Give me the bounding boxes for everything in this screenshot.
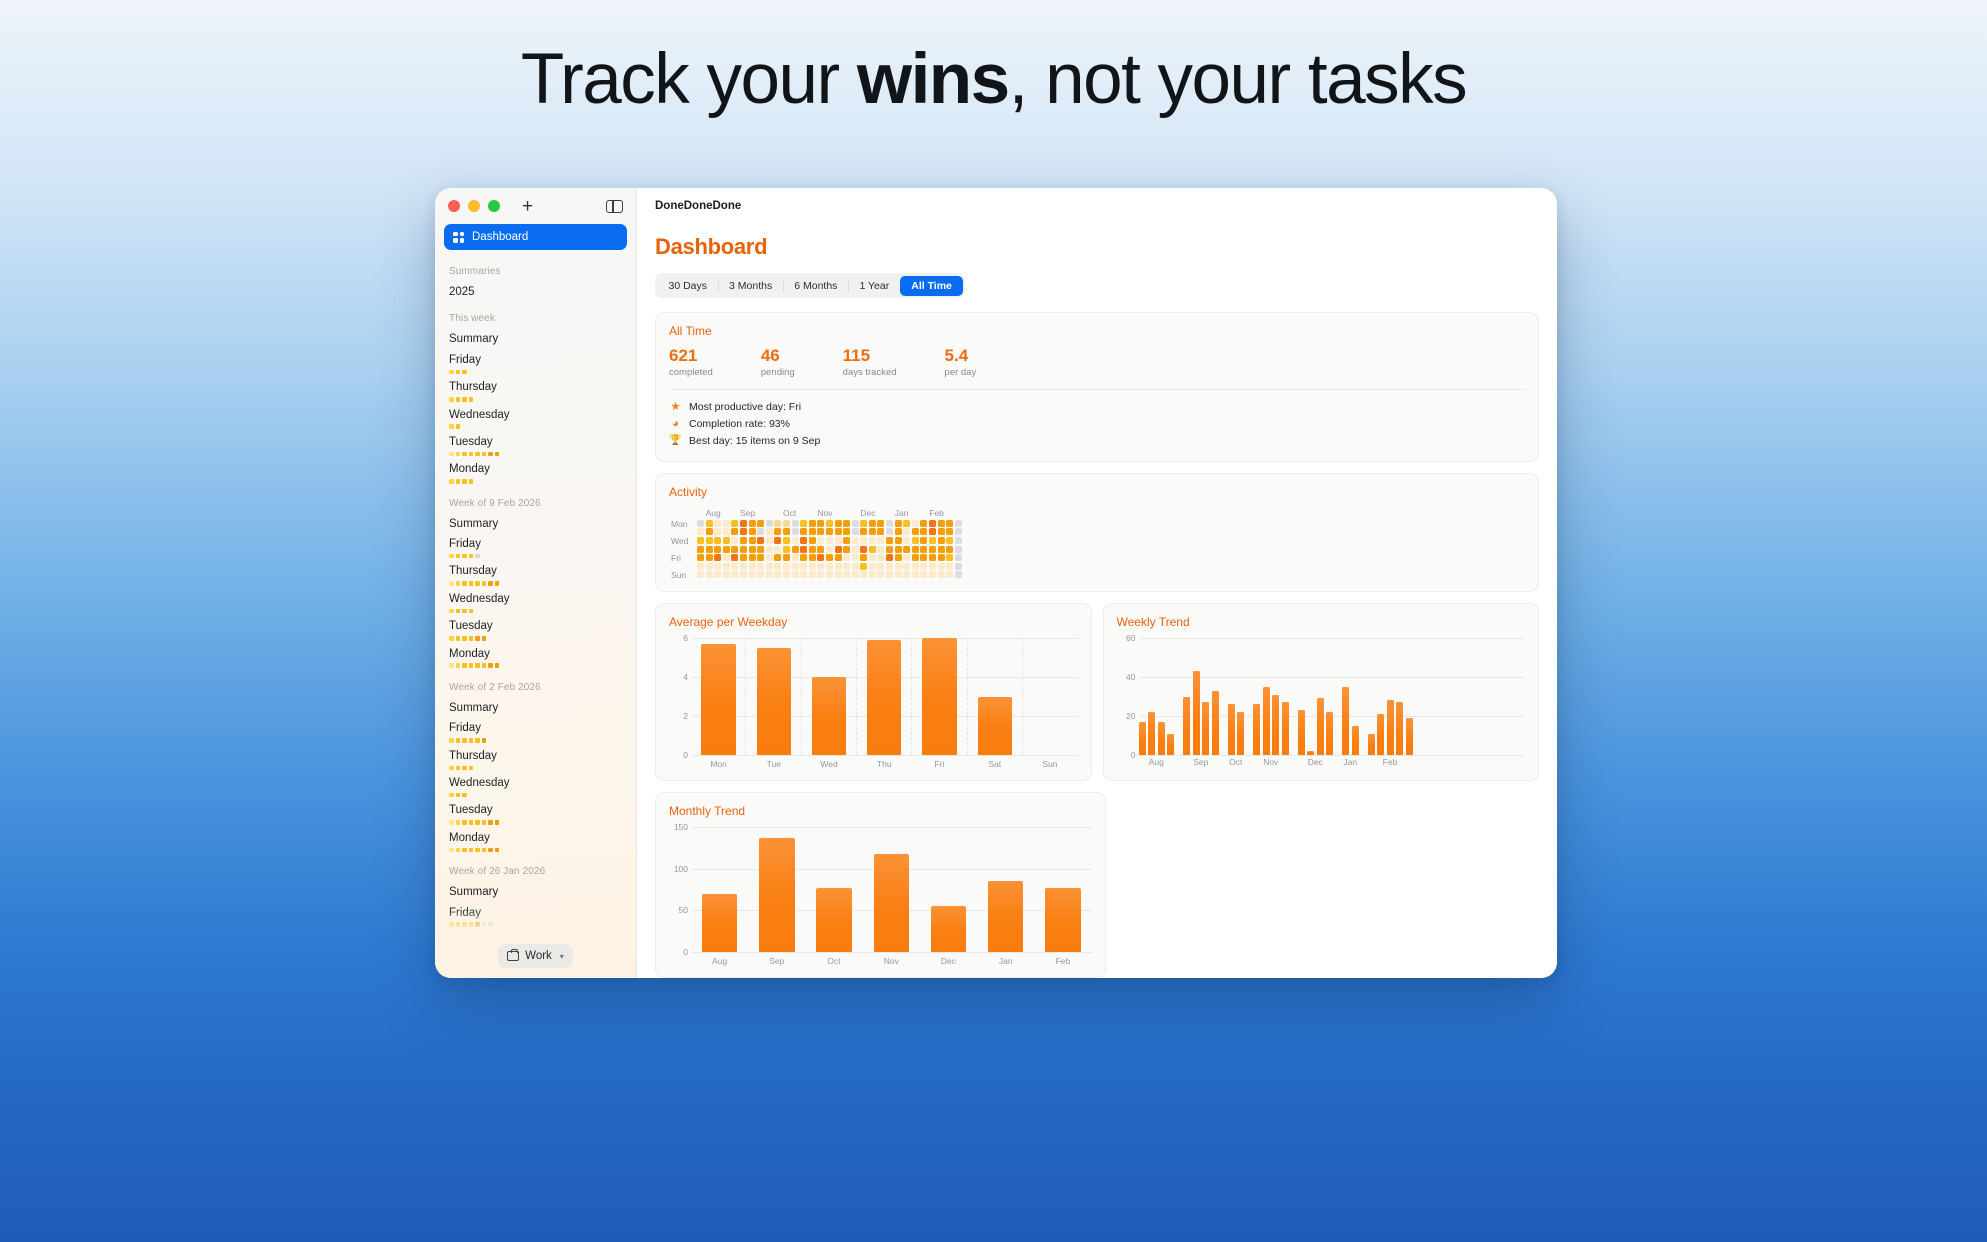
sidebar-item-summary[interactable]: Summary <box>444 514 627 534</box>
bar[interactable] <box>1183 697 1190 756</box>
heatmap-cell[interactable] <box>955 554 962 561</box>
heatmap-cell[interactable] <box>843 554 850 561</box>
heatmap-cell[interactable] <box>792 563 799 570</box>
heatmap-cell[interactable] <box>749 528 756 535</box>
heatmap-cell[interactable] <box>955 537 962 544</box>
sidebar-item-summary[interactable]: Summary <box>444 882 627 902</box>
heatmap-cell[interactable] <box>749 537 756 544</box>
tab-30-days[interactable]: 30 Days <box>658 276 719 296</box>
heatmap-cell[interactable] <box>749 563 756 570</box>
heatmap-cell[interactable] <box>766 571 773 578</box>
bar[interactable] <box>1193 671 1200 755</box>
heatmap-cell[interactable] <box>766 537 773 544</box>
tab-all-time[interactable]: All Time <box>900 276 963 296</box>
heatmap-cell[interactable] <box>766 546 773 553</box>
heatmap-cell[interactable] <box>946 546 953 553</box>
heatmap-cell[interactable] <box>869 546 876 553</box>
bar[interactable] <box>1368 734 1375 755</box>
heatmap-cell[interactable] <box>766 563 773 570</box>
heatmap-cell[interactable] <box>912 520 919 527</box>
heatmap-cell[interactable] <box>723 528 730 535</box>
heatmap-cell[interactable] <box>912 571 919 578</box>
bar[interactable] <box>1158 722 1165 755</box>
heatmap-cell[interactable] <box>946 563 953 570</box>
heatmap-cell[interactable] <box>912 554 919 561</box>
toggle-sidebar-icon[interactable] <box>606 200 623 213</box>
heatmap-cell[interactable] <box>697 528 704 535</box>
heatmap-cell[interactable] <box>697 537 704 544</box>
heatmap-cell[interactable] <box>723 537 730 544</box>
heatmap-cell[interactable] <box>869 537 876 544</box>
tab-3-months[interactable]: 3 Months <box>718 276 783 296</box>
heatmap-cell[interactable] <box>749 546 756 553</box>
heatmap-cell[interactable] <box>938 554 945 561</box>
minimize-button[interactable] <box>468 200 480 212</box>
sidebar-item-monday[interactable]: Monday <box>444 459 627 486</box>
heatmap-cell[interactable] <box>783 537 790 544</box>
bar[interactable] <box>1342 687 1349 755</box>
heatmap-cell[interactable] <box>817 554 824 561</box>
heatmap-cell[interactable] <box>946 537 953 544</box>
heatmap-cell[interactable] <box>817 537 824 544</box>
heatmap-cell[interactable] <box>895 528 902 535</box>
heatmap-cell[interactable] <box>903 520 910 527</box>
heatmap-cell[interactable] <box>955 528 962 535</box>
heatmap-cell[interactable] <box>843 563 850 570</box>
heatmap-cell[interactable] <box>706 520 713 527</box>
heatmap-cell[interactable] <box>835 537 842 544</box>
heatmap-cell[interactable] <box>869 571 876 578</box>
heatmap-cell[interactable] <box>706 546 713 553</box>
heatmap-cell[interactable] <box>774 537 781 544</box>
heatmap-cell[interactable] <box>843 520 850 527</box>
bar[interactable] <box>1212 691 1219 755</box>
heatmap-cell[interactable] <box>886 563 893 570</box>
heatmap-cell[interactable] <box>826 563 833 570</box>
heatmap-cell[interactable] <box>826 554 833 561</box>
heatmap-cell[interactable] <box>869 520 876 527</box>
heatmap-cell[interactable] <box>938 563 945 570</box>
heatmap-cell[interactable] <box>869 554 876 561</box>
bar-slot[interactable] <box>857 638 912 755</box>
heatmap-cell[interactable] <box>852 546 859 553</box>
heatmap-cell[interactable] <box>835 563 842 570</box>
heatmap-cell[interactable] <box>757 554 764 561</box>
heatmap-cell[interactable] <box>852 520 859 527</box>
heatmap-cell[interactable] <box>903 563 910 570</box>
heatmap-cell[interactable] <box>731 571 738 578</box>
bar-slot[interactable] <box>691 827 748 952</box>
heatmap-cell[interactable] <box>774 554 781 561</box>
heatmap-cell[interactable] <box>895 563 902 570</box>
bar[interactable] <box>1317 698 1324 755</box>
heatmap-cell[interactable] <box>817 528 824 535</box>
heatmap-cell[interactable] <box>740 520 747 527</box>
add-entry-button[interactable]: + <box>522 197 533 216</box>
heatmap-cell[interactable] <box>886 554 893 561</box>
heatmap-cell[interactable] <box>774 563 781 570</box>
heatmap-cell[interactable] <box>783 563 790 570</box>
heatmap-cell[interactable] <box>895 554 902 561</box>
heatmap-cell[interactable] <box>929 554 936 561</box>
heatmap-cell[interactable] <box>723 554 730 561</box>
heatmap-cell[interactable] <box>895 546 902 553</box>
heatmap-cell[interactable] <box>774 528 781 535</box>
heatmap-cell[interactable] <box>706 537 713 544</box>
bar[interactable] <box>1272 695 1279 755</box>
heatmap-cell[interactable] <box>731 520 738 527</box>
heatmap-cell[interactable] <box>920 528 927 535</box>
heatmap-cell[interactable] <box>817 563 824 570</box>
heatmap-cell[interactable] <box>895 537 902 544</box>
heatmap-cell[interactable] <box>749 571 756 578</box>
heatmap-cell[interactable] <box>826 528 833 535</box>
heatmap-cell[interactable] <box>869 563 876 570</box>
heatmap-cell[interactable] <box>714 571 721 578</box>
heatmap-cell[interactable] <box>723 546 730 553</box>
heatmap-cell[interactable] <box>809 537 816 544</box>
bar[interactable] <box>1396 702 1403 755</box>
heatmap-cell[interactable] <box>929 528 936 535</box>
heatmap-cell[interactable] <box>792 528 799 535</box>
heatmap-cell[interactable] <box>955 563 962 570</box>
bar-slot[interactable] <box>746 638 801 755</box>
heatmap-cell[interactable] <box>860 520 867 527</box>
heatmap-cell[interactable] <box>714 563 721 570</box>
heatmap-cell[interactable] <box>877 520 884 527</box>
heatmap-cell[interactable] <box>946 528 953 535</box>
heatmap-cell[interactable] <box>714 546 721 553</box>
heatmap-cell[interactable] <box>800 554 807 561</box>
bar[interactable] <box>1139 722 1146 755</box>
heatmap-cell[interactable] <box>903 528 910 535</box>
heatmap-cell[interactable] <box>783 554 790 561</box>
heatmap-cell[interactable] <box>706 571 713 578</box>
heatmap-cell[interactable] <box>714 537 721 544</box>
bar[interactable] <box>1237 712 1244 755</box>
heatmap-cell[interactable] <box>860 528 867 535</box>
sidebar-item-thursday[interactable]: Thursday <box>444 746 627 773</box>
bar[interactable] <box>922 638 956 755</box>
sidebar-item-friday[interactable]: Friday <box>444 350 627 377</box>
workspace-selector[interactable]: Work ▾ <box>498 944 573 968</box>
sidebar-item-wednesday[interactable]: Wednesday <box>444 589 627 616</box>
heatmap-cell[interactable] <box>835 528 842 535</box>
heatmap-cell[interactable] <box>877 528 884 535</box>
heatmap-cell[interactable] <box>783 520 790 527</box>
heatmap-cell[interactable] <box>800 520 807 527</box>
bar[interactable] <box>816 888 851 952</box>
bar[interactable] <box>757 648 791 755</box>
bar[interactable] <box>759 838 794 952</box>
heatmap-cell[interactable] <box>731 554 738 561</box>
heatmap-cell[interactable] <box>929 563 936 570</box>
bar[interactable] <box>1167 734 1174 755</box>
heatmap-cell[interactable] <box>920 563 927 570</box>
sidebar-item-thursday[interactable]: Thursday <box>444 377 627 404</box>
bar-slot[interactable] <box>1022 638 1077 755</box>
heatmap-cell[interactable] <box>835 554 842 561</box>
heatmap-cell[interactable] <box>714 528 721 535</box>
heatmap-cell[interactable] <box>929 520 936 527</box>
bar[interactable] <box>874 854 909 952</box>
heatmap-cell[interactable] <box>903 537 910 544</box>
heatmap-cell[interactable] <box>740 537 747 544</box>
heatmap-cell[interactable] <box>920 537 927 544</box>
bar[interactable] <box>1352 726 1359 755</box>
heatmap-cell[interactable] <box>852 571 859 578</box>
heatmap-cell[interactable] <box>714 554 721 561</box>
sidebar-item-friday[interactable]: Friday <box>444 534 627 561</box>
heatmap-cell[interactable] <box>938 520 945 527</box>
bar-slot[interactable] <box>801 638 856 755</box>
heatmap-cell[interactable] <box>740 546 747 553</box>
heatmap-cell[interactable] <box>809 520 816 527</box>
bar[interactable] <box>1387 700 1394 755</box>
sidebar-item-summary[interactable]: Summary <box>444 698 627 718</box>
heatmap-cell[interactable] <box>817 520 824 527</box>
heatmap-cell[interactable] <box>723 520 730 527</box>
sidebar-item-monday[interactable]: Monday <box>444 828 627 855</box>
heatmap-cell[interactable] <box>955 546 962 553</box>
heatmap-cell[interactable] <box>783 528 790 535</box>
heatmap-cell[interactable] <box>835 571 842 578</box>
heatmap-cell[interactable] <box>749 520 756 527</box>
heatmap-cell[interactable] <box>835 520 842 527</box>
sidebar-item-friday[interactable]: Friday <box>444 718 627 745</box>
heatmap-cell[interactable] <box>920 554 927 561</box>
bar[interactable] <box>1202 702 1209 755</box>
bar[interactable] <box>701 644 735 755</box>
heatmap-cell[interactable] <box>886 546 893 553</box>
heatmap-cell[interactable] <box>792 554 799 561</box>
maximize-button[interactable] <box>488 200 500 212</box>
heatmap-cell[interactable] <box>697 520 704 527</box>
bar[interactable] <box>1263 687 1270 755</box>
heatmap-cell[interactable] <box>809 528 816 535</box>
bar[interactable] <box>1326 712 1333 755</box>
sidebar-item-monday[interactable]: Monday <box>444 644 627 671</box>
heatmap-cell[interactable] <box>774 546 781 553</box>
heatmap-cell[interactable] <box>912 546 919 553</box>
heatmap-cell[interactable] <box>826 520 833 527</box>
heatmap-cell[interactable] <box>800 546 807 553</box>
heatmap-cell[interactable] <box>731 537 738 544</box>
heatmap-cell[interactable] <box>860 546 867 553</box>
bar-slot[interactable] <box>748 827 805 952</box>
bar[interactable] <box>988 881 1023 952</box>
heatmap-cell[interactable] <box>912 537 919 544</box>
tab-6-months[interactable]: 6 Months <box>783 276 848 296</box>
heatmap-cell[interactable] <box>740 528 747 535</box>
bar[interactable] <box>1377 714 1384 755</box>
heatmap-cell[interactable] <box>731 563 738 570</box>
bar[interactable] <box>1298 710 1305 755</box>
heatmap-cell[interactable] <box>809 554 816 561</box>
heatmap-cell[interactable] <box>938 537 945 544</box>
heatmap-cell[interactable] <box>697 546 704 553</box>
sidebar-item-friday[interactable]: Friday <box>444 903 627 930</box>
heatmap-cell[interactable] <box>835 546 842 553</box>
bar-slot[interactable] <box>805 827 862 952</box>
heatmap-cell[interactable] <box>826 537 833 544</box>
heatmap-cell[interactable] <box>860 571 867 578</box>
heatmap-cell[interactable] <box>749 554 756 561</box>
heatmap-cell[interactable] <box>946 571 953 578</box>
sidebar-item-2025[interactable]: 2025 <box>444 282 627 302</box>
heatmap-cell[interactable] <box>895 520 902 527</box>
heatmap-cell[interactable] <box>955 571 962 578</box>
heatmap-cell[interactable] <box>714 520 721 527</box>
heatmap-cell[interactable] <box>809 546 816 553</box>
heatmap-cell[interactable] <box>792 520 799 527</box>
heatmap-cell[interactable] <box>757 537 764 544</box>
bar-slot[interactable] <box>1034 827 1091 952</box>
heatmap-cell[interactable] <box>877 537 884 544</box>
heatmap-cell[interactable] <box>886 528 893 535</box>
heatmap-cell[interactable] <box>860 563 867 570</box>
heatmap-cell[interactable] <box>860 537 867 544</box>
heatmap-cell[interactable] <box>783 571 790 578</box>
heatmap-cell[interactable] <box>852 528 859 535</box>
heatmap-cell[interactable] <box>757 563 764 570</box>
sidebar-item-tuesday[interactable]: Tuesday <box>444 432 627 459</box>
bar[interactable] <box>978 697 1012 756</box>
heatmap-cell[interactable] <box>946 520 953 527</box>
bar-slot[interactable] <box>863 827 920 952</box>
heatmap-cell[interactable] <box>843 546 850 553</box>
heatmap-cell[interactable] <box>920 571 927 578</box>
heatmap-cell[interactable] <box>731 546 738 553</box>
heatmap-cell[interactable] <box>792 537 799 544</box>
heatmap-cell[interactable] <box>886 520 893 527</box>
bar[interactable] <box>931 906 966 952</box>
heatmap-cell[interactable] <box>852 537 859 544</box>
heatmap-cell[interactable] <box>766 554 773 561</box>
heatmap-cell[interactable] <box>938 571 945 578</box>
heatmap-cell[interactable] <box>809 571 816 578</box>
heatmap-cell[interactable] <box>800 571 807 578</box>
heatmap-cell[interactable] <box>912 563 919 570</box>
bar-slot[interactable] <box>967 638 1022 755</box>
heatmap-cell[interactable] <box>938 546 945 553</box>
heatmap-cell[interactable] <box>886 571 893 578</box>
heatmap-cell[interactable] <box>877 546 884 553</box>
heatmap-cell[interactable] <box>706 563 713 570</box>
sidebar-item-dashboard[interactable]: Dashboard <box>444 224 627 250</box>
sidebar-item-tuesday[interactable]: Tuesday <box>444 800 627 827</box>
heatmap-cell[interactable] <box>697 554 704 561</box>
heatmap-cell[interactable] <box>920 546 927 553</box>
heatmap-cell[interactable] <box>843 571 850 578</box>
heatmap-cell[interactable] <box>740 571 747 578</box>
heatmap-cell[interactable] <box>869 528 876 535</box>
bar[interactable] <box>1148 712 1155 755</box>
sidebar-item-thursday[interactable]: Thursday <box>444 561 627 588</box>
heatmap-cell[interactable] <box>757 520 764 527</box>
heatmap-cell[interactable] <box>809 563 816 570</box>
heatmap-cell[interactable] <box>843 537 850 544</box>
heatmap-cell[interactable] <box>929 537 936 544</box>
bar[interactable] <box>812 677 846 755</box>
heatmap-cell[interactable] <box>929 546 936 553</box>
heatmap-cell[interactable] <box>920 520 927 527</box>
heatmap-cell[interactable] <box>792 546 799 553</box>
bar-slot[interactable] <box>691 638 746 755</box>
heatmap-cell[interactable] <box>697 571 704 578</box>
bar[interactable] <box>867 640 901 755</box>
heatmap-cell[interactable] <box>817 571 824 578</box>
heatmap-cell[interactable] <box>860 554 867 561</box>
heatmap-cell[interactable] <box>852 563 859 570</box>
heatmap-cell[interactable] <box>757 546 764 553</box>
heatmap-cell[interactable] <box>817 546 824 553</box>
sidebar-scroll[interactable]: Dashboard Summaries2025This weekSummaryF… <box>435 224 636 934</box>
heatmap-cell[interactable] <box>723 571 730 578</box>
heatmap-cell[interactable] <box>706 528 713 535</box>
heatmap-cell[interactable] <box>903 546 910 553</box>
heatmap-cell[interactable] <box>731 528 738 535</box>
bar-slot[interactable] <box>920 827 977 952</box>
heatmap-cell[interactable] <box>740 563 747 570</box>
heatmap-cell[interactable] <box>912 528 919 535</box>
heatmap-cell[interactable] <box>740 554 747 561</box>
heatmap-cell[interactable] <box>783 546 790 553</box>
heatmap-cell[interactable] <box>826 546 833 553</box>
bar[interactable] <box>1253 704 1260 755</box>
heatmap-cell[interactable] <box>852 554 859 561</box>
bar[interactable] <box>702 894 737 952</box>
heatmap-cell[interactable] <box>938 528 945 535</box>
heatmap-cell[interactable] <box>774 520 781 527</box>
heatmap-cell[interactable] <box>723 563 730 570</box>
bar[interactable] <box>1045 888 1080 952</box>
heatmap-cell[interactable] <box>929 571 936 578</box>
heatmap-cell[interactable] <box>877 571 884 578</box>
sidebar-item-tuesday[interactable]: Tuesday <box>444 616 627 643</box>
heatmap-cell[interactable] <box>955 520 962 527</box>
sidebar-item-wednesday[interactable]: Wednesday <box>444 773 627 800</box>
heatmap-cell[interactable] <box>792 571 799 578</box>
heatmap-cell[interactable] <box>697 563 704 570</box>
heatmap-cell[interactable] <box>895 571 902 578</box>
sidebar-item-wednesday[interactable]: Wednesday <box>444 405 627 432</box>
heatmap-cell[interactable] <box>800 528 807 535</box>
heatmap-cell[interactable] <box>774 571 781 578</box>
heatmap-cell[interactable] <box>877 554 884 561</box>
heatmap-cell[interactable] <box>766 520 773 527</box>
heatmap-cell[interactable] <box>877 563 884 570</box>
bar-slot[interactable] <box>912 638 967 755</box>
bar[interactable] <box>1406 718 1413 755</box>
heatmap-cell[interactable] <box>706 554 713 561</box>
heatmap-cell[interactable] <box>843 528 850 535</box>
heatmap-cell[interactable] <box>757 528 764 535</box>
heatmap-cell[interactable] <box>946 554 953 561</box>
bar[interactable] <box>1228 704 1235 755</box>
close-button[interactable] <box>448 200 460 212</box>
heatmap-cell[interactable] <box>757 571 764 578</box>
heatmap-cell[interactable] <box>766 528 773 535</box>
heatmap-cell[interactable] <box>800 563 807 570</box>
bar[interactable] <box>1282 702 1289 755</box>
heatmap-cell[interactable] <box>826 571 833 578</box>
heatmap-cell[interactable] <box>903 554 910 561</box>
heatmap-cell[interactable] <box>800 537 807 544</box>
heatmap-cell[interactable] <box>903 571 910 578</box>
sidebar-item-summary[interactable]: Summary <box>444 329 627 349</box>
bar-slot[interactable] <box>977 827 1034 952</box>
